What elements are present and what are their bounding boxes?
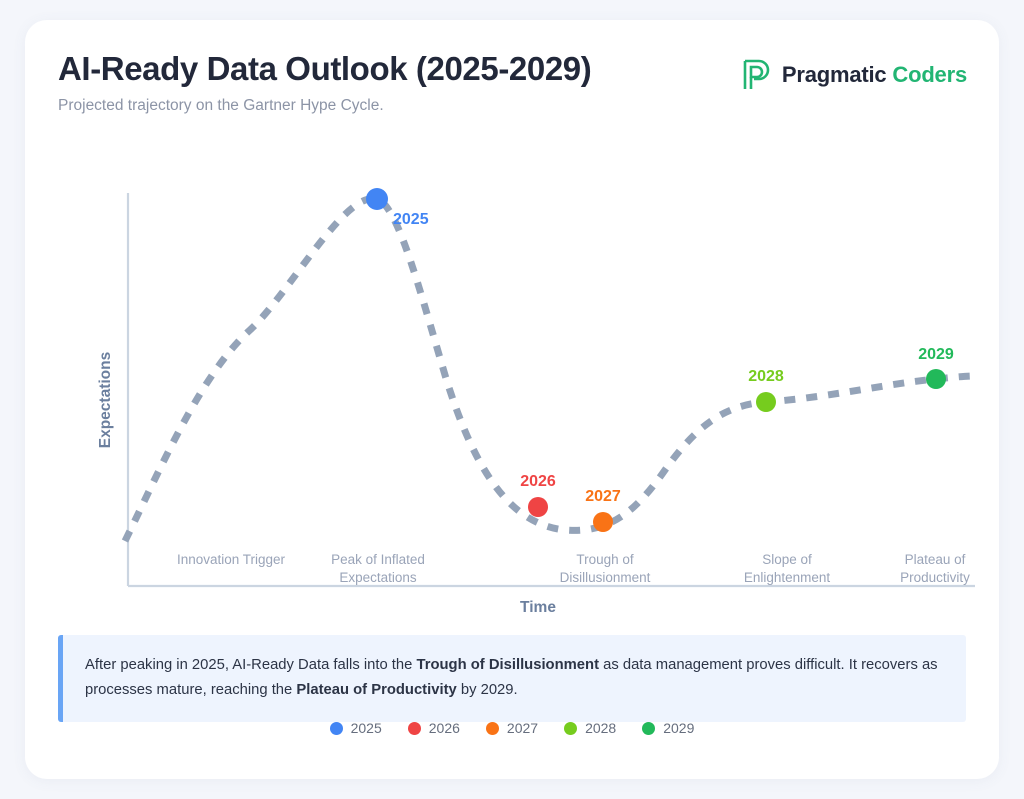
brand-name-second: Coders: [892, 62, 967, 87]
header: AI-Ready Data Outlook (2025-2029) Projec…: [58, 48, 969, 128]
stage-label: Plateau of: [905, 552, 966, 567]
legend-label: 2025: [351, 720, 382, 736]
data-points: 20252026202720282029: [366, 188, 954, 532]
page-subtitle: Projected trajectory on the Gartner Hype…: [58, 96, 969, 116]
stage-label: Peak of Inflated: [331, 552, 425, 567]
stage-label: Expectations: [339, 570, 417, 585]
hype-cycle-chart: Innovation TriggerPeak of InflatedExpect…: [25, 140, 999, 640]
brand-logo: Pragmatic Coders: [741, 58, 967, 92]
data-point-2029[interactable]: [926, 369, 946, 389]
chart-legend: 20252026202720282029: [25, 720, 999, 736]
data-point-label-2025: 2025: [393, 211, 429, 228]
legend-item-2028[interactable]: 2028: [564, 720, 616, 736]
pragmatic-coders-p-icon: [741, 58, 771, 92]
stage-label: Enlightenment: [744, 570, 831, 585]
callout-bold-2: Plateau of Productivity: [296, 682, 456, 698]
data-point-2025[interactable]: [366, 188, 388, 210]
legend-label: 2026: [429, 720, 460, 736]
stage-label: Slope of: [762, 552, 812, 567]
legend-item-2025[interactable]: 2025: [330, 720, 382, 736]
legend-label: 2027: [507, 720, 538, 736]
data-point-label-2027: 2027: [585, 488, 621, 505]
legend-label: 2029: [663, 720, 694, 736]
stage-label: Innovation Trigger: [177, 552, 286, 567]
summary-callout-text: After peaking in 2025, AI-Ready Data fal…: [85, 653, 944, 703]
data-point-label-2026: 2026: [520, 473, 556, 490]
stage-label: Trough of: [576, 552, 634, 567]
legend-dot-icon: [486, 722, 499, 735]
callout-text-3: by 2029.: [457, 682, 518, 698]
y-axis-title: Expectations: [97, 352, 114, 448]
legend-dot-icon: [408, 722, 421, 735]
data-point-label-2029: 2029: [918, 346, 954, 363]
chart-svg: Innovation TriggerPeak of InflatedExpect…: [25, 140, 999, 640]
stage-label: Disillusionment: [560, 570, 651, 585]
legend-item-2029[interactable]: 2029: [642, 720, 694, 736]
stage-label: Productivity: [900, 570, 970, 585]
data-point-label-2028: 2028: [748, 368, 784, 385]
callout-text-1: After peaking in 2025, AI-Ready Data fal…: [85, 657, 417, 673]
stage-labels: Innovation TriggerPeak of InflatedExpect…: [177, 552, 970, 585]
brand-name-first: Pragmatic: [782, 62, 887, 87]
legend-dot-icon: [330, 722, 343, 735]
legend-item-2027[interactable]: 2027: [486, 720, 538, 736]
brand-text: Pragmatic Coders: [782, 62, 967, 88]
legend-dot-icon: [564, 722, 577, 735]
data-point-2026[interactable]: [528, 497, 548, 517]
chart-card: AI-Ready Data Outlook (2025-2029) Projec…: [25, 20, 999, 779]
legend-dot-icon: [642, 722, 655, 735]
data-point-2027[interactable]: [593, 512, 613, 532]
summary-callout: After peaking in 2025, AI-Ready Data fal…: [58, 635, 966, 722]
x-axis-title: Time: [520, 599, 556, 616]
legend-label: 2028: [585, 720, 616, 736]
data-point-2028[interactable]: [756, 392, 776, 412]
callout-bold-1: Trough of Disillusionment: [417, 657, 600, 673]
legend-item-2026[interactable]: 2026: [408, 720, 460, 736]
